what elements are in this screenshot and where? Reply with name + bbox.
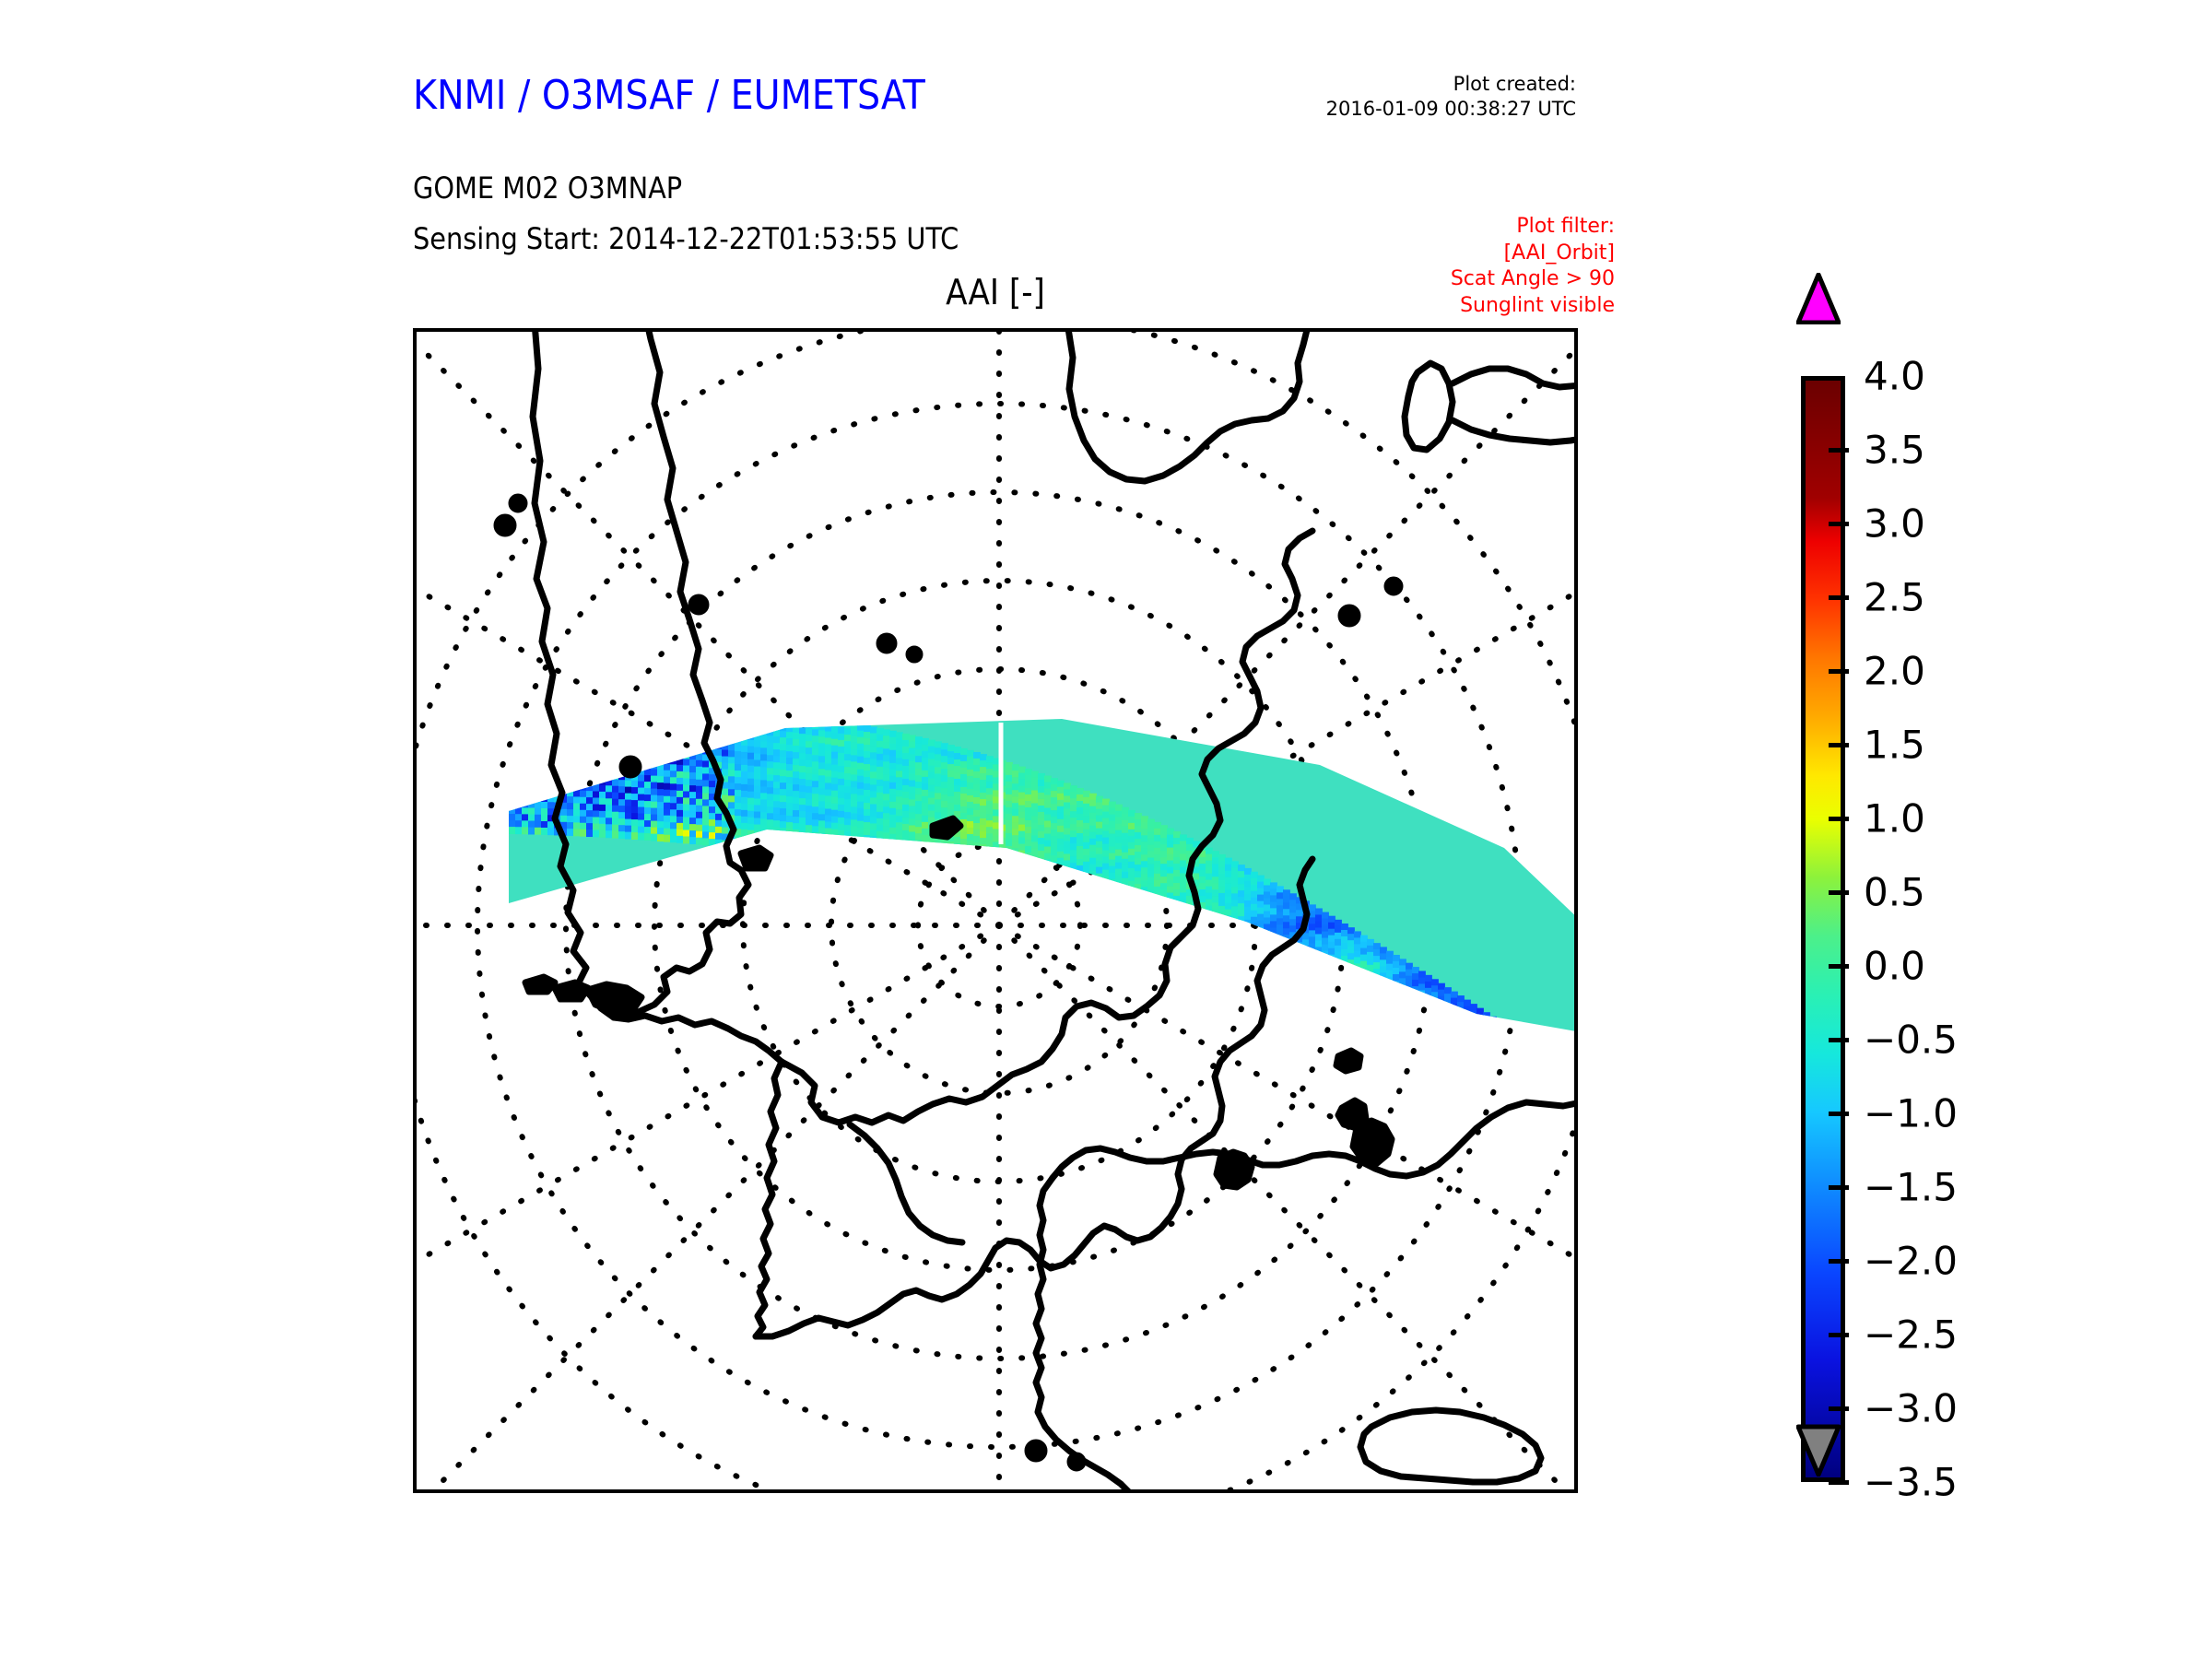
colorbar: 4.03.53.02.52.01.51.00.50.0−0.5−1.0−1.5−…	[1795, 321, 2183, 1500]
product-name: GOME M02 O3MNAP	[413, 171, 682, 206]
colorbar-tick-label: 3.0	[1864, 501, 1925, 547]
colorbar-tick-label: 1.0	[1864, 796, 1925, 841]
colorbar-tick-label: −1.5	[1864, 1165, 1958, 1210]
page-title: AAI [-]	[413, 272, 1578, 312]
colorbar-tick	[1829, 522, 1849, 526]
colorbar-tick-label: −3.0	[1864, 1386, 1958, 1431]
colorbar-tick-label: 4.0	[1864, 354, 1925, 399]
colorbar-tick	[1829, 1406, 1849, 1411]
colorbar-tick-label: 0.0	[1864, 944, 1925, 989]
plot-filter-name: [AAI_Orbit]	[1451, 241, 1615, 267]
colorbar-tick	[1829, 890, 1849, 895]
sensing-start: Sensing Start: 2014-12-22T01:53:55 UTC	[413, 221, 959, 256]
colorbar-tick	[1829, 1185, 1849, 1190]
colorbar-tick-label: −2.5	[1864, 1312, 1958, 1358]
colorbar-tick-label: 2.5	[1864, 575, 1925, 620]
colorbar-tick	[1829, 817, 1849, 821]
colorbar-under-arrow	[1796, 1423, 1841, 1477]
organisation-title: KNMI / O3MSAF / EUMETSAT	[413, 72, 925, 119]
map-svg	[417, 332, 1578, 1493]
plot-created-value: 2016-01-09 00:38:27 UTC	[1326, 97, 1576, 122]
plot-created-block: Plot created: 2016-01-09 00:38:27 UTC	[1326, 72, 1576, 122]
colorbar-tick	[1829, 1480, 1849, 1485]
colorbar-tick-label: 1.5	[1864, 723, 1925, 768]
colorbar-over-arrow	[1796, 273, 1841, 324]
colorbar-tick	[1829, 964, 1849, 969]
map-plot-area	[413, 328, 1578, 1493]
plot-created-label: Plot created:	[1326, 72, 1576, 97]
colorbar-tick	[1829, 1112, 1849, 1116]
colorbar-gradient	[1806, 381, 1841, 1477]
colorbar-tick	[1829, 743, 1849, 747]
colorbar-tick	[1829, 669, 1849, 674]
colorbar-tick-label: −3.5	[1864, 1460, 1958, 1505]
colorbar-tick-label: −1.0	[1864, 1091, 1958, 1136]
colorbar-tick	[1829, 1038, 1849, 1042]
plot-filter-label: Plot filter:	[1451, 214, 1615, 241]
colorbar-tick-label: 2.0	[1864, 649, 1925, 694]
colorbar-tick-label: 0.5	[1864, 870, 1925, 915]
colorbar-tick	[1829, 1259, 1849, 1264]
colorbar-tick-label: 3.5	[1864, 428, 1925, 473]
colorbar-tick-label: −0.5	[1864, 1018, 1958, 1063]
colorbar-tick	[1829, 448, 1849, 453]
colorbar-tick	[1829, 595, 1849, 600]
colorbar-bar	[1801, 376, 1845, 1482]
colorbar-tick-label: −2.0	[1864, 1239, 1958, 1284]
colorbar-tick	[1829, 1333, 1849, 1337]
